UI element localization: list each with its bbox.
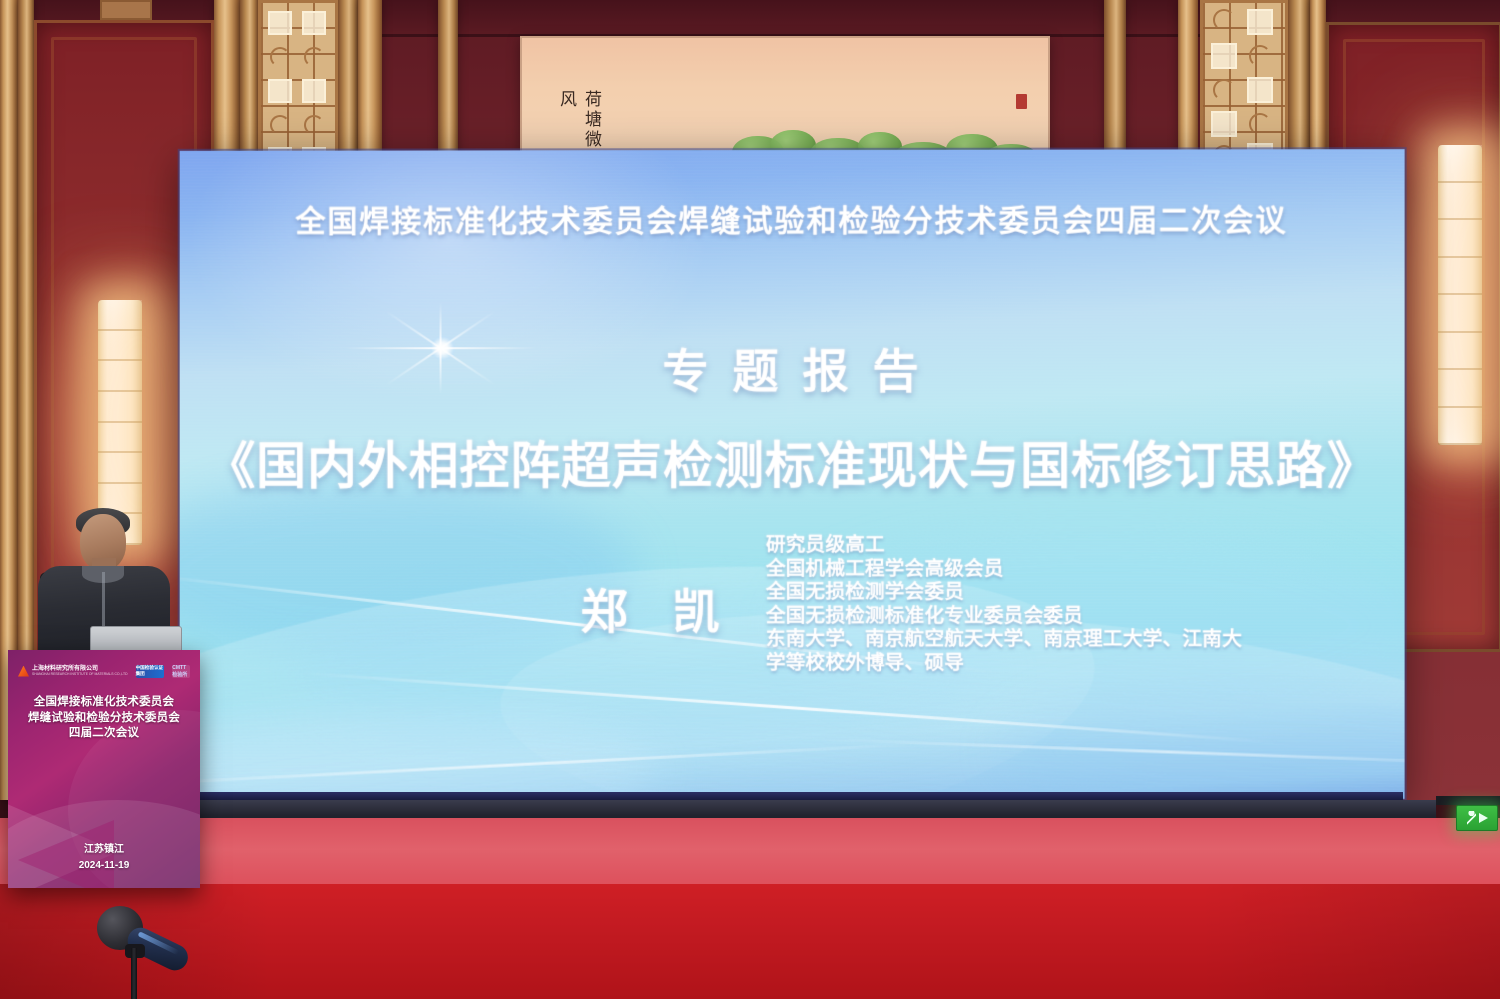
lattice-square — [1247, 9, 1273, 35]
lattice-square — [1211, 111, 1237, 137]
sconce-segment — [1438, 220, 1482, 258]
credential-line: 全国机械工程学会高级会员 — [766, 557, 1388, 581]
presenter-figure — [18, 508, 188, 658]
scroll-seal — [1016, 94, 1027, 109]
sconce-segment — [98, 453, 142, 484]
credential-line: 研究员级高工 — [766, 534, 1388, 558]
credential-line: 全国无损检测标准化专业委员会委员 — [766, 604, 1388, 628]
running-person-icon — [1467, 811, 1476, 826]
sconce-segment — [1438, 258, 1482, 296]
mic-stand-pole — [131, 948, 137, 999]
lattice-square — [302, 11, 326, 35]
lattice-spiral — [1213, 9, 1235, 31]
lattice-spiral — [1213, 79, 1235, 101]
podium-date: 2024-11-19 — [8, 858, 200, 874]
emergency-exit-icon — [1456, 805, 1498, 831]
sconce-segment — [98, 392, 142, 423]
lattice-square — [268, 79, 292, 103]
led-presentation-screen: 全国焊接标准化技术委员会焊缝试验和检验分技术委员会四届二次会议 专题报告 《国内… — [180, 149, 1405, 799]
conference-header-text: 全国焊接标准化技术委员会焊缝试验和检验分技术委员会四届二次会议 — [180, 195, 1405, 240]
sconce-segment — [1438, 333, 1482, 371]
lattice-spiral — [1249, 45, 1271, 67]
chinese-scroll-painting: 荷塘微风 — [520, 36, 1050, 166]
lattice-square — [268, 11, 292, 35]
foreground-microphone — [95, 900, 225, 999]
credential-line: 东南大学、南京航空航天大学、南京理工大学、江南大 — [766, 628, 1388, 652]
door-header-plate — [100, 0, 152, 20]
podium-title-line: 四届二次会议 — [14, 726, 194, 742]
lattice-square — [302, 79, 326, 103]
lattice-spiral — [1249, 113, 1271, 135]
right-arrow-icon — [1479, 813, 1488, 823]
lattice-square — [1247, 77, 1273, 103]
logo-ccic: 中国检验认证集团 — [136, 665, 165, 678]
exit-sign-mount — [1436, 796, 1500, 805]
screen-content: 全国焊接标准化技术委员会焊缝试验和检验分技术委员会四届二次会议 专题报告 《国内… — [180, 149, 1405, 799]
lattice-screen-right — [1200, 0, 1288, 170]
logo-shanghai-materials: 上海材料研究所有限公司 SHANGHAI RESEARCH INSTITUTE … — [18, 666, 128, 677]
podium-title-line: 焊缝试验和检验分技术委员会 — [14, 711, 194, 727]
sconce-segment — [1438, 183, 1482, 221]
credential-line: 学等校校外博导、硕导 — [766, 651, 1388, 675]
triangle-logo-icon — [18, 666, 29, 677]
stage-carpet-upper — [0, 818, 1500, 888]
sconce-segment — [1438, 145, 1482, 183]
sconce-segment — [98, 361, 142, 392]
speaker-credentials: 研究员级高工 全国机械工程学会高级会员 全国无损检测学会委员 全国无损检测标准化… — [766, 534, 1388, 676]
conference-hall-photo: 荷塘微风 — [0, 0, 1500, 999]
sconce-segment — [1438, 370, 1482, 408]
presentation-kicker: 专题报告 — [180, 335, 1405, 402]
credential-line: 全国无损检测学会委员 — [766, 581, 1388, 605]
sconce-segment — [98, 331, 142, 362]
podium-location: 江苏镇江 — [8, 842, 200, 858]
sconce-segment — [98, 423, 142, 454]
podium-title-block: 全国焊接标准化技术委员会 焊缝试验和检验分技术委员会 四届二次会议 — [14, 695, 194, 742]
lattice-square — [1211, 43, 1237, 69]
lattice-spiral — [304, 47, 324, 67]
podium-footer-block: 江苏镇江 2024-11-19 — [8, 842, 200, 874]
lattice-spiral — [270, 47, 290, 67]
lattice-spiral — [304, 115, 324, 135]
speaker-name: 郑 凯 — [530, 573, 770, 642]
sconce-segment — [98, 300, 142, 331]
podium-lectern: 上海材料研究所有限公司 SHANGHAI RESEARCH INSTITUTE … — [8, 650, 200, 888]
wall-sconce-right — [1438, 145, 1482, 445]
presentation-title: 《国内外相控阵超声检测标准现状与国标修订思路》 — [180, 426, 1405, 498]
sconce-segment — [1438, 295, 1482, 333]
lattice-spiral — [270, 115, 290, 135]
stage-carpet-lower — [0, 884, 1500, 999]
logo-subtitle: SHANGHAI RESEARCH INSTITUTE OF MATERIALS… — [32, 672, 128, 676]
podium-logo-row: 上海材料研究所有限公司 SHANGHAI RESEARCH INSTITUTE … — [18, 662, 190, 680]
logo-cmtt: CMTT 检验所 — [172, 665, 190, 678]
sconce-segment — [1438, 408, 1482, 446]
podium-title-line: 全国焊接标准化技术委员会 — [14, 695, 194, 711]
